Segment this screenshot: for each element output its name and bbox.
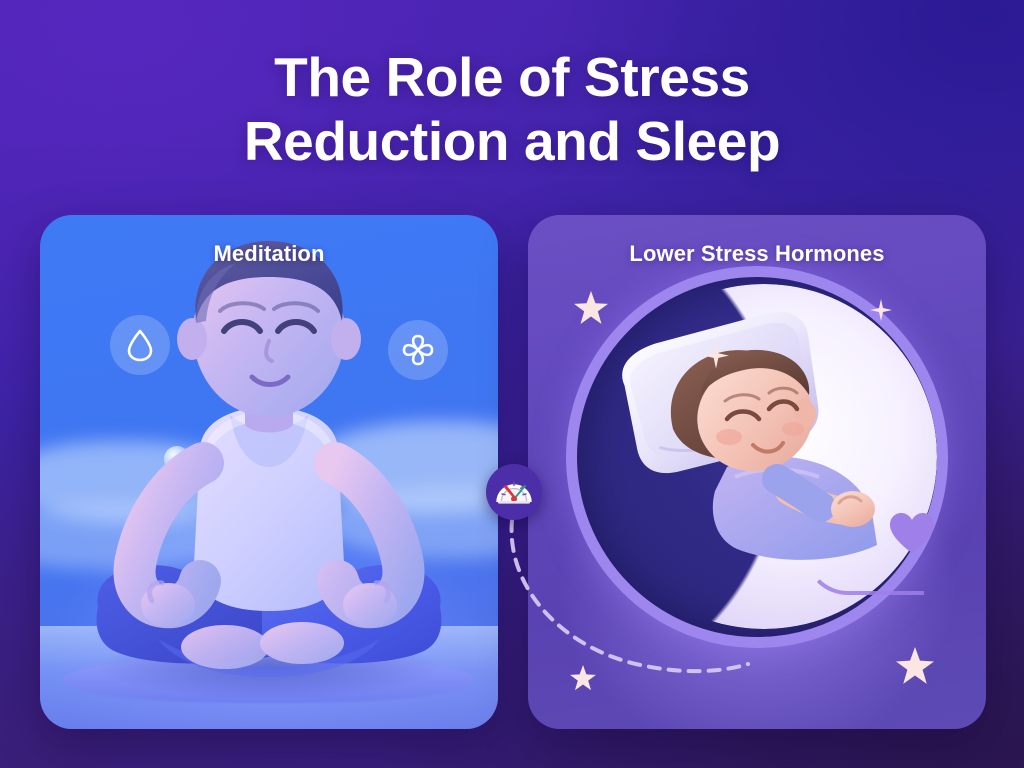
page-title-line-2: Reduction and Sleep [0, 110, 1024, 174]
page-title-line-1: The Role of Stress [0, 46, 1024, 110]
flower-knot-icon [401, 333, 435, 367]
card-sleep[interactable]: Lower Stress Hormones [528, 215, 986, 729]
water-drop-icon [125, 328, 155, 362]
gauge-icon-badge[interactable] [486, 464, 542, 520]
flower-knot-icon-badge[interactable] [388, 320, 448, 380]
card-meditation-label: Meditation [40, 241, 498, 267]
water-drop-icon-badge[interactable] [110, 315, 170, 375]
page-title: The Role of Stress Reduction and Sleep [0, 46, 1024, 174]
gauge-icon [494, 472, 534, 512]
card-sleep-label: Lower Stress Hormones [528, 241, 986, 267]
card-meditation[interactable]: Meditation [40, 215, 498, 729]
person-meditating-illustration [40, 215, 498, 729]
